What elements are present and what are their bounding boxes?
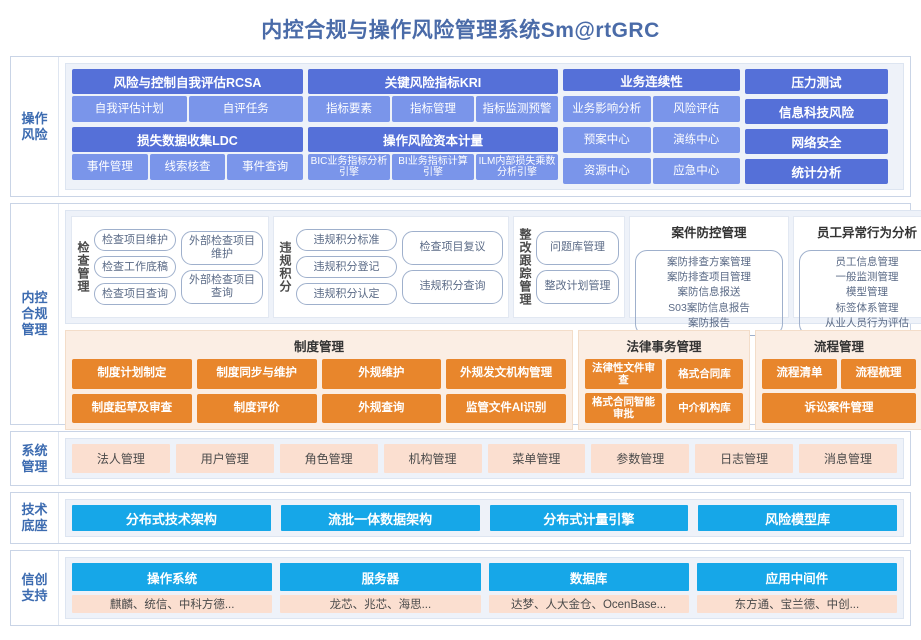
pill-item[interactable]: 外部检查项目维护	[181, 231, 263, 265]
orange-button[interactable]: 制度评价	[197, 394, 317, 424]
oprisk-column-continuity: 业务连续性 业务影响分析 风险评估 预案中心 演练中心 资源中心 应急中心	[563, 69, 740, 184]
xinchuang-header[interactable]: 数据库	[489, 563, 689, 591]
group-capital: 操作风险资本计量 BIC业务指标分析引擎 BI业务指标计算引擎 ILM内部损失乘…	[308, 127, 558, 180]
orange-button[interactable]: 法律性文件审查	[585, 359, 662, 389]
group-header-rcsa[interactable]: 风险与控制自我评估RCSA	[72, 69, 303, 94]
band-label-line2: 支持	[21, 588, 47, 604]
panel-rectification-tracking: 整改跟踪管理 问题库管理 整改计划管理	[513, 216, 625, 318]
list-item[interactable]: 员工信息管理	[804, 255, 921, 270]
panel-check-management: 检查管理 检查项目维护 检查工作底稿 检查项目查询 外部检查项目维护 外部检查项…	[71, 216, 269, 318]
band-body-operation-risk: 风险与控制自我评估RCSA 自我评估计划 自评任务 损失数据收集LDC 事件管理…	[59, 57, 910, 196]
band-label-operation-risk: 操作 风险	[11, 57, 59, 196]
band-xinchuang-support: 信创 支持 操作系统 麒麟、统信、中科方德... 服务器 龙芯、兆芯、海思...…	[10, 550, 911, 626]
orange-button[interactable]: 中介机构库	[666, 393, 743, 423]
orange-button[interactable]: 监管文件AI识别	[446, 394, 566, 424]
orange-button[interactable]: 外规查询	[322, 394, 442, 424]
group-subrow-ldc: 事件管理 线索核查 事件查询	[72, 154, 303, 180]
panel-pill-column-right: 检查项目复议 违规积分查询	[402, 221, 503, 313]
list-item[interactable]: S03案防信息报告	[640, 301, 778, 316]
network-security-button[interactable]: 网络安全	[745, 129, 888, 154]
xinchuang-header[interactable]: 服务器	[280, 563, 480, 591]
pill-item[interactable]: 违规积分认定	[296, 283, 397, 305]
band-label-system-management: 系统 管理	[11, 432, 59, 485]
panel-pill-column-left: 违规积分标准 违规积分登记 违规积分认定	[296, 221, 397, 313]
sys-button[interactable]: 消息管理	[799, 444, 897, 473]
xinchuang-column: 操作系统 麒麟、统信、中科方德...	[72, 563, 272, 613]
band-label-line2: 底座	[21, 518, 47, 534]
panel-pill-column-left: 问题库管理 整改计划管理	[536, 221, 619, 313]
pill-item[interactable]: 违规积分标准	[296, 229, 397, 251]
pill-item[interactable]: 违规积分查询	[402, 270, 503, 304]
pill-item[interactable]: 检查项目维护	[94, 229, 176, 251]
orange-button[interactable]: 制度计划制定	[72, 359, 192, 389]
panel-violation-points: 违规积分 违规积分标准 违规积分登记 违规积分认定 检查项目复议 违规积分查询	[273, 216, 509, 318]
xinchuang-column: 应用中间件 东方通、宝兰德、中创...	[697, 563, 897, 613]
xinchuang-vendors: 龙芯、兆芯、海思...	[280, 595, 480, 613]
list-item[interactable]: 一般监测管理	[804, 270, 921, 285]
pill-item[interactable]: 检查项目查询	[94, 283, 176, 305]
sys-button[interactable]: 法人管理	[72, 444, 170, 473]
sub-item[interactable]: 演练中心	[653, 127, 741, 153]
sub-item[interactable]: 指标要素	[308, 96, 390, 122]
list-item[interactable]: 从业人员行为评估	[804, 316, 921, 331]
sys-button[interactable]: 日志管理	[695, 444, 793, 473]
continuity-row-2: 预案中心 演练中心	[563, 127, 740, 153]
band-label-line3: 管理	[21, 322, 47, 338]
band-body-xinchuang: 操作系统 麒麟、统信、中科方德... 服务器 龙芯、兆芯、海思... 数据库 达…	[59, 551, 910, 625]
box-grid: 法律性文件审查 格式合同库 格式合同智能审批 中介机构库	[585, 359, 743, 423]
band-label-line1: 信创	[21, 572, 47, 588]
panel-vertical-label: 违规积分	[279, 221, 291, 313]
band-internal-control: 内控 合规 管理 检查管理 检查项目维护 检查工作底稿 检查项目查询	[10, 203, 911, 425]
box-grid: 制度计划制定 制度同步与维护 外规维护 外规发文机构管理 制度起草及审查 制度评…	[72, 359, 566, 423]
sys-button[interactable]: 用户管理	[176, 444, 274, 473]
sub-item[interactable]: 业务影响分析	[563, 96, 651, 122]
pill-item[interactable]: 问题库管理	[536, 231, 619, 265]
tech-base-row: 分布式技术架构 流批一体数据架构 分布式计量引擎 风险模型库	[65, 499, 904, 537]
xinchuang-vendors: 麒麟、统信、中科方德...	[72, 595, 272, 613]
tech-button[interactable]: 风险模型库	[698, 505, 897, 531]
sub-item[interactable]: BIC业务指标分析引擎	[308, 154, 390, 180]
band-label-xinchuang: 信创 支持	[11, 551, 59, 625]
sub-item[interactable]: 事件查询	[227, 154, 303, 180]
sub-item[interactable]: BI业务指标计算引擎	[392, 154, 474, 180]
xinchuang-vendors: 东方通、宝兰德、中创...	[697, 595, 897, 613]
list-item[interactable]: 案防排查项目管理	[640, 270, 778, 285]
band-body-internal-control: 检查管理 检查项目维护 检查工作底稿 检查项目查询 外部检查项目维护 外部检查项…	[59, 204, 921, 424]
sub-item[interactable]: 线索核查	[150, 154, 226, 180]
xinchuang-row: 操作系统 麒麟、统信、中科方德... 服务器 龙芯、兆芯、海思... 数据库 达…	[65, 557, 904, 619]
panel-title: 员工异常行为分析	[799, 221, 921, 245]
sub-item[interactable]: 预案中心	[563, 127, 651, 153]
box-title: 法律事务管理	[585, 334, 743, 359]
box-system-management: 制度管理 制度计划制定 制度同步与维护 外规维护 外规发文机构管理 制度起草及审…	[65, 330, 573, 430]
panel-pill-column-left: 检查项目维护 检查工作底稿 检查项目查询	[94, 221, 176, 313]
group-header-kri[interactable]: 关键风险指标KRI	[308, 69, 558, 94]
box-process-management: 流程管理 流程清单 流程梳理 诉讼案件管理	[755, 330, 921, 430]
orange-button[interactable]: 格式合同库	[666, 359, 743, 389]
tech-button[interactable]: 分布式计量引擎	[490, 505, 689, 531]
sub-item[interactable]: 指标管理	[392, 96, 474, 122]
case-prevention-list[interactable]: 案防排查方案管理 案防排查项目管理 案防信息报送 S03案防信息报告 案防报告	[635, 250, 783, 336]
band-label-line1: 系统	[21, 443, 47, 459]
it-risk-button[interactable]: 信息科技风险	[745, 99, 888, 124]
group-subrow-rcsa: 自我评估计划 自评任务	[72, 96, 303, 122]
tech-button[interactable]: 流批一体数据架构	[281, 505, 480, 531]
band-label-line2: 合规	[21, 306, 47, 322]
sub-item[interactable]: 应急中心	[653, 158, 741, 184]
list-item[interactable]: 案防排查方案管理	[640, 255, 778, 270]
band-label-tech-base: 技术 底座	[11, 493, 59, 543]
list-item[interactable]: 案防信息报送	[640, 285, 778, 300]
xinchuang-header[interactable]: 操作系统	[72, 563, 272, 591]
orange-button[interactable]: 外规维护	[322, 359, 442, 389]
continuity-row-1: 业务影响分析 风险评估	[563, 96, 740, 122]
list-item[interactable]: 案防报告	[640, 316, 778, 331]
internal-control-orange-row: 制度管理 制度计划制定 制度同步与维护 外规维护 外规发文机构管理 制度起草及审…	[65, 330, 921, 430]
band-system-management: 系统 管理 法人管理 用户管理 角色管理 机构管理 菜单管理 参数管理 日志管理…	[10, 431, 911, 486]
operation-risk-grid: 风险与控制自我评估RCSA 自我评估计划 自评任务 损失数据收集LDC 事件管理…	[65, 63, 904, 190]
xinchuang-vendors: 达梦、人大金仓、OcenBase...	[489, 595, 689, 613]
oprisk-column-kri: 关键风险指标KRI 指标要素 指标管理 指标监测预警 操作风险资本计量 BIC业…	[308, 69, 558, 184]
pill-item[interactable]: 检查项目复议	[402, 231, 503, 265]
sub-item[interactable]: 自评任务	[189, 96, 304, 122]
group-subrow-kri: 指标要素 指标管理 指标监测预警	[308, 96, 558, 122]
group-ldc: 损失数据收集LDC 事件管理 线索核查 事件查询	[72, 127, 303, 180]
group-header-continuity[interactable]: 业务连续性	[563, 69, 740, 91]
sys-button[interactable]: 角色管理	[280, 444, 378, 473]
orange-button[interactable]: 制度同步与维护	[197, 359, 317, 389]
panel-pill-column-right: 外部检查项目维护 外部检查项目查询	[181, 221, 263, 313]
group-subrow-capital: BIC业务指标分析引擎 BI业务指标计算引擎 ILM内部损失乘数分析引擎	[308, 154, 558, 180]
xinchuang-column: 数据库 达梦、人大金仓、OcenBase...	[489, 563, 689, 613]
band-body-system-management: 法人管理 用户管理 角色管理 机构管理 菜单管理 参数管理 日志管理 消息管理	[59, 432, 910, 485]
sub-item[interactable]: 风险评估	[653, 96, 741, 122]
oprisk-column-rcsa: 风险与控制自我评估RCSA 自我评估计划 自评任务 损失数据收集LDC 事件管理…	[72, 69, 303, 184]
band-label-line2: 管理	[21, 459, 47, 475]
band-label-line1: 操作	[21, 111, 47, 127]
band-label-line2: 风险	[21, 127, 47, 143]
band-label-line1: 内控	[21, 290, 47, 306]
group-header-ldc[interactable]: 损失数据收集LDC	[72, 127, 303, 152]
internal-control-wrap: 检查管理 检查项目维护 检查工作底稿 检查项目查询 外部检查项目维护 外部检查项…	[65, 210, 921, 418]
sub-item[interactable]: 资源中心	[563, 158, 651, 184]
list-item[interactable]: 模型管理	[804, 285, 921, 300]
sys-button[interactable]: 菜单管理	[488, 444, 586, 473]
sys-button[interactable]: 参数管理	[591, 444, 689, 473]
panel-vertical-label: 检查管理	[77, 221, 89, 313]
orange-button[interactable]: 格式合同智能审批	[585, 393, 662, 423]
xinchuang-header[interactable]: 应用中间件	[697, 563, 897, 591]
sub-item[interactable]: 自我评估计划	[72, 96, 187, 122]
orange-button[interactable]: 外规发文机构管理	[446, 359, 566, 389]
sub-item[interactable]: ILM内部损失乘数分析引擎	[476, 154, 558, 180]
architecture-diagram: 内控合规与操作风险管理系统Sm@rtGRC 操作 风险 风险与控制自我评估RCS…	[0, 0, 921, 640]
page-title: 内控合规与操作风险管理系统Sm@rtGRC	[10, 0, 911, 56]
pill-item[interactable]: 违规积分登记	[296, 256, 397, 278]
panel-case-prevention: 案件防控管理 案防排查方案管理 案防排查项目管理 案防信息报送 S03案防信息报…	[629, 216, 789, 318]
system-management-row: 法人管理 用户管理 角色管理 机构管理 菜单管理 参数管理 日志管理 消息管理	[65, 438, 904, 479]
band-body-tech-base: 分布式技术架构 流批一体数据架构 分布式计量引擎 风险模型库	[59, 493, 910, 543]
panel-employee-behavior: 员工异常行为分析 员工信息管理 一般监测管理 模型管理 标签体系管理 从业人员行…	[793, 216, 921, 318]
employee-behavior-list[interactable]: 员工信息管理 一般监测管理 模型管理 标签体系管理 从业人员行为评估	[799, 250, 921, 336]
orange-button[interactable]: 诉讼案件管理	[762, 393, 916, 423]
xinchuang-column: 服务器 龙芯、兆芯、海思...	[280, 563, 480, 613]
box-legal-management: 法律事务管理 法律性文件审查 格式合同库 格式合同智能审批 中介机构库	[578, 330, 750, 430]
band-label-line1: 技术	[21, 502, 47, 518]
continuity-row-3: 资源中心 应急中心	[563, 158, 740, 184]
group-kri: 关键风险指标KRI 指标要素 指标管理 指标监测预警	[308, 69, 558, 122]
pill-item[interactable]: 外部检查项目查询	[181, 270, 263, 304]
sub-item[interactable]: 事件管理	[72, 154, 148, 180]
tech-button[interactable]: 分布式技术架构	[72, 505, 271, 531]
panel-title: 案件防控管理	[635, 221, 783, 245]
box-grid: 流程清单 流程梳理 诉讼案件管理	[762, 359, 916, 423]
orange-button[interactable]: 流程清单	[762, 359, 837, 389]
pill-item[interactable]: 整改计划管理	[536, 270, 619, 304]
pill-item[interactable]: 检查工作底稿	[94, 256, 176, 278]
orange-button[interactable]: 流程梳理	[841, 359, 916, 389]
list-item[interactable]: 标签体系管理	[804, 301, 921, 316]
stress-test-button[interactable]: 压力测试	[745, 69, 888, 94]
oprisk-column-stress: 压力测试 信息科技风险 网络安全 统计分析	[745, 69, 888, 184]
band-operation-risk: 操作 风险 风险与控制自我评估RCSA 自我评估计划 自评任务 损失数据收集	[10, 56, 911, 197]
box-title: 流程管理	[762, 334, 916, 359]
panel-vertical-label: 整改跟踪管理	[519, 221, 531, 313]
sys-button[interactable]: 机构管理	[384, 444, 482, 473]
group-rcsa: 风险与控制自我评估RCSA 自我评估计划 自评任务	[72, 69, 303, 122]
box-title: 制度管理	[72, 334, 566, 359]
internal-control-panels: 检查管理 检查项目维护 检查工作底稿 检查项目查询 外部检查项目维护 外部检查项…	[65, 210, 921, 324]
sub-item[interactable]: 指标监测预警	[476, 96, 558, 122]
statistics-button[interactable]: 统计分析	[745, 159, 888, 184]
band-tech-base: 技术 底座 分布式技术架构 流批一体数据架构 分布式计量引擎 风险模型库	[10, 492, 911, 544]
group-header-capital[interactable]: 操作风险资本计量	[308, 127, 558, 152]
band-label-internal-control: 内控 合规 管理	[11, 204, 59, 424]
orange-button[interactable]: 制度起草及审查	[72, 394, 192, 424]
